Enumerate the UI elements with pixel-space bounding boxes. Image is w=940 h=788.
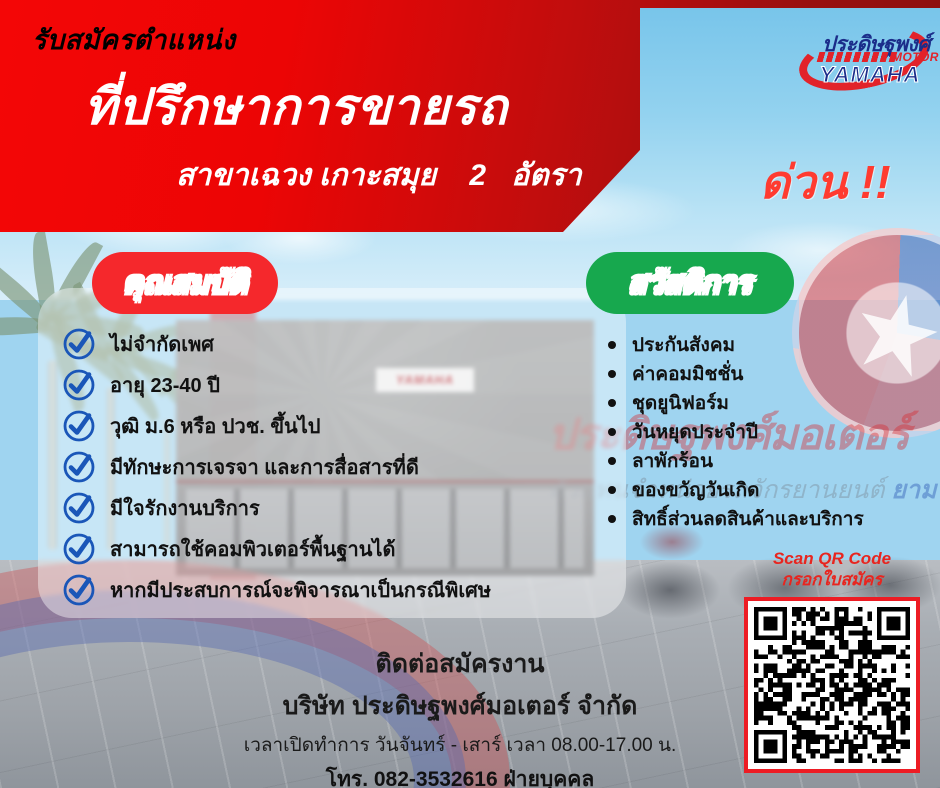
- list-item: หากมีประสบการณ์จะพิจารณาเป็นกรณีพิเศษ: [62, 570, 602, 610]
- contact-heading: ติดต่อสมัครงาน: [180, 644, 740, 684]
- qr-title: Scan QR Code: [744, 548, 920, 569]
- check-circle-icon: [62, 573, 96, 607]
- qr-code-matrix: [754, 607, 910, 763]
- contact-hours: เวลาเปิดทำการ วันจันทร์ - เสาร์ เวลา 08.…: [180, 730, 740, 760]
- list-item: ชุดยูนิฟอร์ม: [608, 388, 938, 417]
- list-item: ค่าคอมมิชชั่น: [608, 359, 938, 388]
- header-content: รับสมัครตำแหน่ง ที่ปรึกษาการขายรถ สาขาเฉ…: [0, 0, 660, 232]
- benefit-text: วันหยุดประจำปี: [632, 417, 758, 447]
- check-circle-icon: [62, 491, 96, 525]
- contact-phone[interactable]: โทร. 082-3532616 ฝ่ายบุคคล: [180, 763, 740, 788]
- logo-speed-bars-icon: [817, 52, 898, 62]
- bullet-icon: [608, 515, 616, 523]
- benefits-list: ประกันสังคม ค่าคอมมิชชั่น ชุดยูนิฟอร์ม ว…: [608, 330, 938, 533]
- qr-subtitle: กรอกใบสมัคร: [744, 569, 920, 590]
- contact-block: ติดต่อสมัครงาน บริษัท ประดิษฐพงศ์มอเตอร์…: [180, 644, 740, 788]
- qr-section: Scan QR Code กรอกใบสมัคร: [744, 548, 920, 774]
- qualification-text: มีใจรักงานบริการ: [110, 492, 260, 524]
- check-circle-icon: [62, 409, 96, 443]
- check-circle-icon: [62, 368, 96, 402]
- benefits-pill-label: สวัสดิการ: [628, 260, 752, 307]
- check-circle-icon: [62, 532, 96, 566]
- benefit-text: ชุดยูนิฟอร์ม: [632, 388, 729, 418]
- header-kicker: รับสมัครตำแหน่ง: [32, 18, 236, 61]
- list-item: วุฒิ ม.6 หรือ ปวช. ขึ้นไป: [62, 406, 602, 446]
- benefit-text: ของขวัญวันเกิด: [632, 475, 760, 505]
- header-branch-and-count: สาขาเฉวง เกาะสมุย 2 อัตรา: [176, 152, 582, 199]
- benefit-text: สิทธิ์ส่วนลดสินค้าและบริการ: [632, 504, 864, 534]
- list-item: อายุ 23-40 ปี: [62, 365, 602, 405]
- check-circle-icon: [62, 450, 96, 484]
- qualifications-pill: คุณสมบัติ: [92, 252, 278, 314]
- qualification-text: สามารถใช้คอมพิวเตอร์พื้นฐานได้: [110, 533, 395, 565]
- qualification-text: อายุ 23-40 ปี: [110, 369, 220, 401]
- benefits-pill: สวัสดิการ: [586, 252, 794, 314]
- brand-logo: ประดิษฐพงศ์ MOTOR YAMAHA: [796, 14, 932, 92]
- list-item: ของขวัญวันเกิด: [608, 475, 938, 504]
- check-circle-icon: [62, 327, 96, 361]
- qualification-text: หากมีประสบการณ์จะพิจารณาเป็นกรณีพิเศษ: [110, 574, 491, 606]
- bullet-icon: [608, 428, 616, 436]
- page-title: ที่ปรึกษาการขายรถ: [84, 82, 508, 132]
- list-item: มีใจรักงานบริการ: [62, 488, 602, 528]
- qualifications-list: ไม่จำกัดเพศ อายุ 23-40 ปี วุฒิ ม.6 หรือ …: [62, 324, 602, 611]
- contact-company: บริษัท ประดิษฐพงศ์มอเตอร์ จำกัด: [180, 686, 740, 726]
- list-item: สามารถใช้คอมพิวเตอร์พื้นฐานได้: [62, 529, 602, 569]
- qualification-text: ไม่จำกัดเพศ: [110, 328, 214, 360]
- logo-yamaha-text: YAMAHA: [812, 62, 928, 88]
- benefit-text: ลาพักร้อน: [632, 446, 713, 476]
- recruitment-poster: YAMAHA ประดิษฐพงศ์มอเตอร์ ตัวแทนจำหน่ายร…: [0, 0, 940, 788]
- benefit-text: ค่าคอมมิชชั่น: [632, 359, 743, 389]
- urgent-badge: ด่วน !!: [760, 146, 891, 219]
- qualifications-pill-label: คุณสมบัติ: [123, 260, 248, 307]
- bullet-icon: [608, 457, 616, 465]
- list-item: ประกันสังคม: [608, 330, 938, 359]
- bullet-icon: [608, 370, 616, 378]
- benefit-text: ประกันสังคม: [632, 330, 735, 360]
- list-item: สิทธิ์ส่วนลดสินค้าและบริการ: [608, 504, 938, 533]
- qualification-text: วุฒิ ม.6 หรือ ปวช. ขึ้นไป: [110, 410, 320, 442]
- list-item: ไม่จำกัดเพศ: [62, 324, 602, 364]
- qr-code-image[interactable]: [744, 597, 920, 773]
- list-item: ลาพักร้อน: [608, 446, 938, 475]
- qualification-text: มีทักษะการเจรจา และการสื่อสารที่ดี: [110, 451, 419, 483]
- bullet-icon: [608, 341, 616, 349]
- list-item: มีทักษะการเจรจา และการสื่อสารที่ดี: [62, 447, 602, 487]
- list-item: วันหยุดประจำปี: [608, 417, 938, 446]
- bullet-icon: [608, 486, 616, 494]
- bullet-icon: [608, 399, 616, 407]
